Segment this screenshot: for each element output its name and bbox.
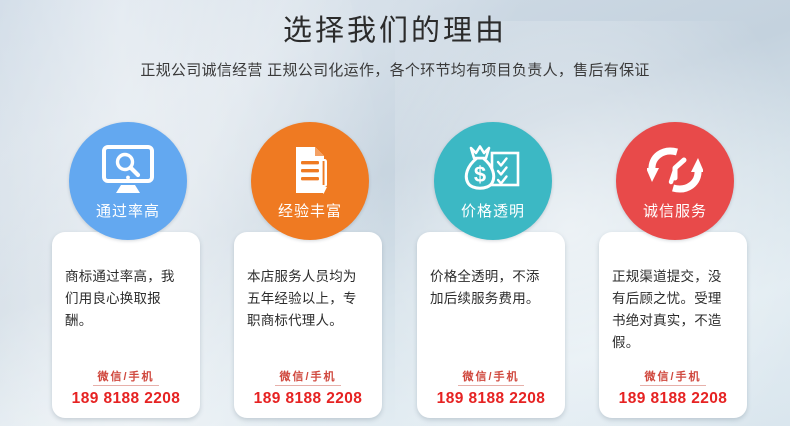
contact-block: 微信/手机 189 8188 2208 [65, 367, 187, 410]
monitor-search-icon [101, 144, 155, 196]
contact-phone[interactable]: 189 8188 2208 [430, 389, 552, 408]
feature-card-list: 商标通过率高，我们用良心换取报酬。 微信/手机 189 8188 2208 [0, 122, 790, 426]
page-title: 选择我们的理由 [0, 10, 790, 52]
feature-badge-label: 经验丰富 [278, 203, 342, 221]
contact-label: 微信/手机 [640, 370, 705, 386]
contact-block: 微信/手机 189 8188 2208 [247, 367, 369, 410]
contact-block: 微信/手机 189 8188 2208 [430, 367, 552, 410]
contact-phone[interactable]: 189 8188 2208 [65, 389, 187, 408]
document-pencil-icon [284, 144, 336, 196]
contact-label: 微信/手机 [275, 370, 340, 386]
page-subtitle: 正规公司诚信经营 正规公司化运作，各个环节均有项目负责人，售后有保证 [0, 61, 790, 81]
feature-badge-label: 价格透明 [461, 203, 525, 221]
svg-text:$: $ [474, 162, 486, 187]
money-bag-checklist-icon: $ [464, 144, 522, 196]
feature-badge-3[interactable]: $ 价格透明 [434, 122, 552, 240]
feature-card-body: 商标通过率高，我们用良心换取报酬。 [65, 266, 187, 367]
contact-phone[interactable]: 189 8188 2208 [247, 389, 369, 408]
feature-badge-1[interactable]: 通过率高 [69, 122, 187, 240]
contact-block: 微信/手机 189 8188 2208 [612, 367, 734, 410]
banner-header: 选择我们的理由 正规公司诚信经营 正规公司化运作，各个环节均有项目负责人，售后有… [0, 10, 790, 81]
feature-card-panel: 价格全透明，不添加后续服务费用。 微信/手机 189 8188 2208 [417, 232, 565, 418]
list-item[interactable]: 商标通过率高，我们用良心换取报酬。 微信/手机 189 8188 2208 [47, 122, 230, 426]
list-item[interactable]: 正规渠道提交，没有后顾之忧。受理书绝对真实，不造假。 微信/手机 189 818… [594, 122, 777, 426]
list-item[interactable]: 本店服务人员均为五年经验以上，专职商标代理人。 微信/手机 189 8188 2… [229, 122, 412, 426]
feature-card-panel: 商标通过率高，我们用良心换取报酬。 微信/手机 189 8188 2208 [52, 232, 200, 418]
feature-card-body: 价格全透明，不添加后续服务费用。 [430, 266, 552, 367]
feature-badge-label: 诚信服务 [643, 203, 707, 221]
contact-phone[interactable]: 189 8188 2208 [612, 389, 734, 408]
feature-card-body: 正规渠道提交，没有后顾之忧。受理书绝对真实，不造假。 [612, 266, 734, 367]
feature-badge-4[interactable]: 诚信服务 [616, 122, 734, 240]
feature-card-panel: 本店服务人员均为五年经验以上，专职商标代理人。 微信/手机 189 8188 2… [234, 232, 382, 418]
promo-banner: 选择我们的理由 正规公司诚信经营 正规公司化运作，各个环节均有项目负责人，售后有… [0, 0, 790, 426]
contact-label: 微信/手机 [93, 370, 158, 386]
list-item[interactable]: 价格全透明，不添加后续服务费用。 微信/手机 189 8188 2208 [412, 122, 595, 426]
refresh-cycle-clock-icon [647, 144, 703, 196]
contact-label: 微信/手机 [458, 370, 523, 386]
feature-card-panel: 正规渠道提交，没有后顾之忧。受理书绝对真实，不造假。 微信/手机 189 818… [599, 232, 747, 418]
feature-badge-label: 通过率高 [96, 203, 160, 221]
feature-badge-2[interactable]: 经验丰富 [251, 122, 369, 240]
feature-card-body: 本店服务人员均为五年经验以上，专职商标代理人。 [247, 266, 369, 367]
